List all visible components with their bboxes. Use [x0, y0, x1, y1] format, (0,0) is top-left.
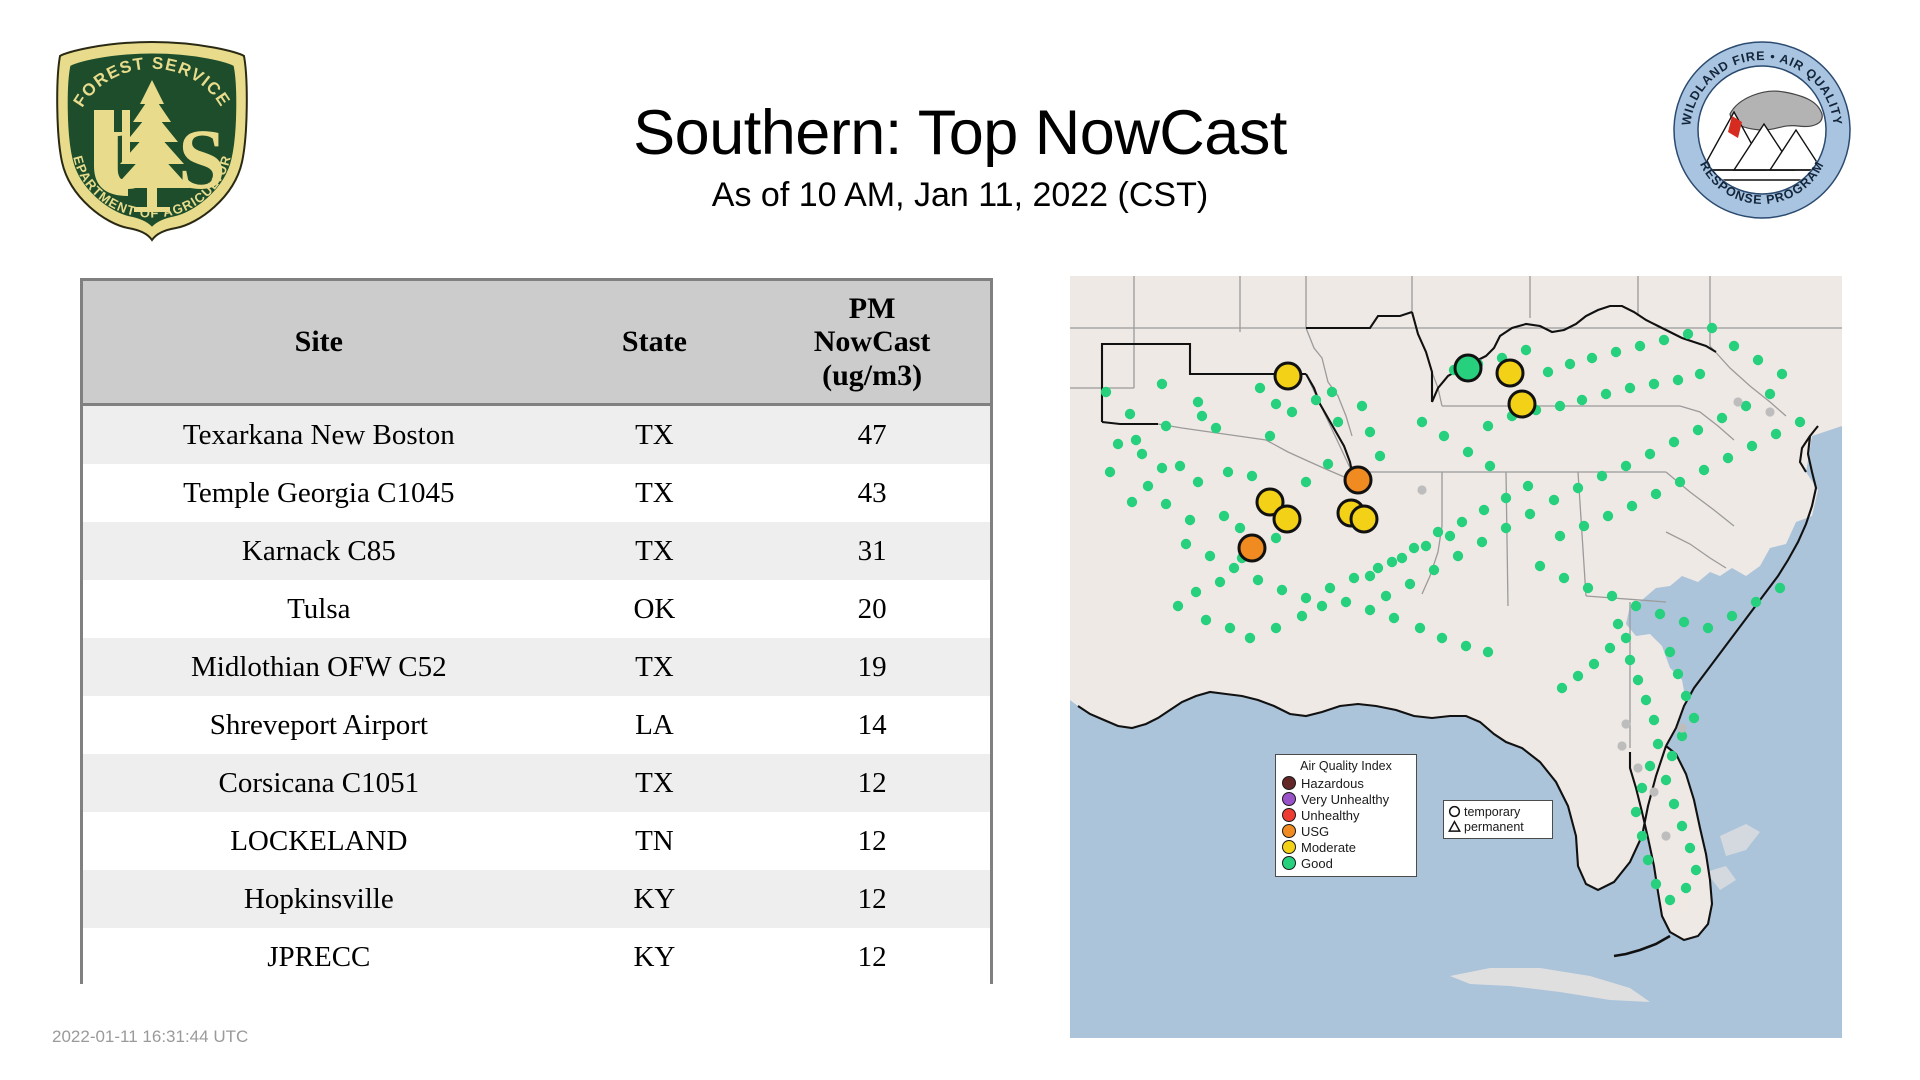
- monitor-site-hopkinsville[interactable]: [1497, 360, 1523, 386]
- good-site-dot: [1245, 633, 1255, 643]
- good-site-dot: [1127, 497, 1137, 507]
- monitor-site-lockeland[interactable]: [1509, 391, 1535, 417]
- good-site-dot: [1415, 623, 1425, 633]
- good-site-dot: [1211, 423, 1221, 433]
- aqi-legend-row: Moderate: [1282, 839, 1410, 855]
- good-site-dot: [1643, 855, 1653, 865]
- good-site-dot: [1727, 611, 1737, 621]
- nowcast-table: Site State PM NowCast (ug/m3) Texarkana …: [83, 281, 990, 986]
- column-header-pm-nowcast: PM NowCast (ug/m3): [754, 281, 990, 405]
- aqi-legend-row: Hazardous: [1282, 775, 1410, 791]
- table-row: Shreveport AirportLA14: [83, 696, 990, 754]
- pm-line-2: NowCast: [814, 325, 931, 358]
- value-cell: 31: [754, 522, 990, 580]
- aqi-swatch-moderate: [1282, 840, 1296, 854]
- value-cell: 43: [754, 464, 990, 522]
- good-site-dot: [1521, 345, 1531, 355]
- good-site-dot: [1479, 505, 1489, 515]
- good-site-dot: [1573, 671, 1583, 681]
- good-site-dot: [1555, 531, 1565, 541]
- monitor-site-texarkana-new-boston[interactable]: [1345, 467, 1371, 493]
- footer-timestamp: 2022-01-11 16:31:44 UTC: [52, 1027, 248, 1047]
- good-site-dot: [1777, 369, 1787, 379]
- no-data-site-dot: [1417, 485, 1426, 494]
- good-site-dot: [1631, 601, 1641, 611]
- good-site-dot: [1485, 461, 1495, 471]
- good-site-dot: [1157, 379, 1167, 389]
- good-site-dot: [1197, 411, 1207, 421]
- good-site-dot: [1611, 347, 1621, 357]
- state-cell: LA: [555, 696, 755, 754]
- good-site-dot: [1229, 563, 1239, 573]
- aqi-legend-label: Unhealthy: [1301, 808, 1360, 823]
- good-site-dot: [1341, 597, 1351, 607]
- good-site-dot: [1349, 573, 1359, 583]
- site-cell: Corsicana C1051: [83, 754, 555, 812]
- good-site-dot: [1501, 523, 1511, 533]
- site-cell: Karnack C85: [83, 522, 555, 580]
- state-cell: OK: [555, 580, 755, 638]
- column-header-site: Site: [83, 281, 555, 405]
- table-body: Texarkana New BostonTX47Temple Georgia C…: [83, 405, 990, 987]
- good-site-dot: [1255, 383, 1265, 393]
- state-cell: TX: [555, 754, 755, 812]
- good-site-dot: [1417, 417, 1427, 427]
- aqi-legend-row: Very Unhealthy: [1282, 791, 1410, 807]
- good-site-dot: [1691, 865, 1701, 875]
- no-data-site-dot: [1649, 787, 1658, 796]
- state-cell: TN: [555, 812, 755, 870]
- good-site-dot: [1201, 615, 1211, 625]
- good-site-dot: [1699, 465, 1709, 475]
- good-site-dot: [1775, 583, 1785, 593]
- site-cell: Temple Georgia C1045: [83, 464, 555, 522]
- good-site-dot: [1601, 389, 1611, 399]
- aqi-legend-label: Moderate: [1301, 840, 1356, 855]
- good-site-dot: [1173, 601, 1183, 611]
- no-data-site-dot: [1633, 763, 1642, 772]
- good-site-dot: [1125, 409, 1135, 419]
- good-site-dot: [1193, 397, 1203, 407]
- table-row: LOCKELANDTN12: [83, 812, 990, 870]
- good-site-dot: [1673, 669, 1683, 679]
- good-site-dot: [1555, 401, 1565, 411]
- good-site-dot: [1665, 647, 1675, 657]
- good-site-dot: [1483, 647, 1493, 657]
- aqi-swatch-usg: [1282, 824, 1296, 838]
- value-cell: 12: [754, 928, 990, 986]
- good-site-dot: [1597, 471, 1607, 481]
- no-data-site-dot: [1733, 397, 1742, 406]
- good-site-dot: [1219, 511, 1229, 521]
- aqi-legend: Air Quality Index HazardousVery Unhealth…: [1275, 754, 1417, 877]
- air-quality-map[interactable]: Air Quality Index HazardousVery Unhealth…: [1070, 276, 1842, 1038]
- table-row: HopkinsvilleKY12: [83, 870, 990, 928]
- good-site-dot: [1621, 461, 1631, 471]
- map-graphic: [1070, 276, 1842, 1038]
- site-cell: Hopkinsville: [83, 870, 555, 928]
- good-site-dot: [1205, 551, 1215, 561]
- good-site-dot: [1633, 675, 1643, 685]
- good-site-dot: [1621, 633, 1631, 643]
- good-site-dot: [1389, 613, 1399, 623]
- good-site-dot: [1683, 329, 1693, 339]
- good-site-dot: [1327, 387, 1337, 397]
- good-site-dot: [1143, 481, 1153, 491]
- good-site-dot: [1625, 655, 1635, 665]
- value-cell: 12: [754, 754, 990, 812]
- good-site-dot: [1603, 511, 1613, 521]
- legend-row-permanent: permanent: [1448, 819, 1548, 834]
- good-site-dot: [1693, 425, 1703, 435]
- good-site-dot: [1645, 449, 1655, 459]
- good-site-dot: [1665, 895, 1675, 905]
- good-site-dot: [1651, 879, 1661, 889]
- aqi-swatch-good: [1282, 856, 1296, 870]
- good-site-dot: [1405, 579, 1415, 589]
- value-cell: 12: [754, 812, 990, 870]
- table-row: Karnack C85TX31: [83, 522, 990, 580]
- column-header-state: State: [555, 281, 755, 405]
- good-site-dot: [1373, 563, 1383, 573]
- good-site-dot: [1501, 493, 1511, 503]
- good-site-dot: [1535, 561, 1545, 571]
- good-site-dot: [1695, 369, 1705, 379]
- good-site-dot: [1323, 459, 1333, 469]
- table-header: Site State PM NowCast (ug/m3): [83, 281, 990, 405]
- value-cell: 47: [754, 405, 990, 465]
- table-row: Corsicana C1051TX12: [83, 754, 990, 812]
- good-site-dot: [1105, 467, 1115, 477]
- circle-icon: [1448, 805, 1461, 818]
- good-site-dot: [1679, 617, 1689, 627]
- good-site-dot: [1747, 441, 1757, 451]
- good-site-dot: [1669, 437, 1679, 447]
- good-site-dot: [1453, 551, 1463, 561]
- good-site-dot: [1175, 461, 1185, 471]
- good-site-dot: [1649, 379, 1659, 389]
- good-site-dot: [1577, 395, 1587, 405]
- good-site-dot: [1605, 643, 1615, 653]
- good-site-dot: [1653, 739, 1663, 749]
- good-site-dot: [1375, 451, 1385, 461]
- good-site-dot: [1625, 383, 1635, 393]
- good-site-dot: [1271, 399, 1281, 409]
- site-cell: JPRECC: [83, 928, 555, 986]
- good-site-dot: [1729, 341, 1739, 351]
- table-row: TulsaOK20: [83, 580, 990, 638]
- good-site-dot: [1753, 355, 1763, 365]
- good-site-dot: [1673, 375, 1683, 385]
- legend-row-temporary: temporary: [1448, 804, 1548, 819]
- site-type-legend: temporary permanent: [1443, 800, 1553, 839]
- good-site-dot: [1317, 601, 1327, 611]
- good-site-dot: [1311, 395, 1321, 405]
- good-site-dot: [1483, 421, 1493, 431]
- good-site-dot: [1137, 449, 1147, 459]
- page-subtitle: As of 10 AM, Jan 11, 2022 (CST): [0, 178, 1920, 212]
- good-site-dot: [1559, 573, 1569, 583]
- good-site-dot: [1717, 413, 1727, 423]
- site-cell: Midlothian OFW C52: [83, 638, 555, 696]
- good-site-dot: [1365, 571, 1375, 581]
- page-header: U S FOREST SERVICE DEPARTMENT OF AGRICUL…: [0, 0, 1920, 250]
- good-site-dot: [1101, 387, 1111, 397]
- good-site-dot: [1525, 509, 1535, 519]
- good-site-dot: [1463, 447, 1473, 457]
- table-row: Midlothian OFW C52TX19: [83, 638, 990, 696]
- good-site-dot: [1685, 843, 1695, 853]
- good-site-dot: [1357, 401, 1367, 411]
- good-site-dot: [1223, 467, 1233, 477]
- pm-line-3: (ug/m3): [822, 359, 922, 392]
- good-site-dot: [1627, 501, 1637, 511]
- aqi-legend-title: Air Quality Index: [1282, 759, 1410, 773]
- good-site-dot: [1235, 523, 1245, 533]
- good-site-dot: [1579, 521, 1589, 531]
- good-site-dot: [1381, 591, 1391, 601]
- page-title: Southern: Top NowCast: [0, 102, 1920, 165]
- good-site-dot: [1565, 359, 1575, 369]
- good-site-dot: [1637, 831, 1647, 841]
- good-site-dot: [1631, 807, 1641, 817]
- good-site-dot: [1297, 611, 1307, 621]
- good-site-dot: [1301, 477, 1311, 487]
- legend-label-temporary: temporary: [1464, 805, 1520, 819]
- aqi-legend-label: Good: [1301, 856, 1333, 871]
- good-site-dot: [1557, 683, 1567, 693]
- monitor-site-tulsa[interactable]: [1275, 363, 1301, 389]
- good-site-dot: [1409, 543, 1419, 553]
- state-cell: TX: [555, 638, 755, 696]
- aqi-swatch-very-unhealthy: [1282, 792, 1296, 806]
- good-site-dot: [1225, 623, 1235, 633]
- good-site-dot: [1641, 695, 1651, 705]
- wildland-fire-air-quality-response-program-logo: WILDLAND FIRE • AIR QUALITY RESPONSE PRO…: [1672, 40, 1852, 220]
- good-site-dot: [1253, 575, 1263, 585]
- good-site-dot: [1433, 527, 1443, 537]
- aqi-legend-row: Unhealthy: [1282, 807, 1410, 823]
- triangle-icon: [1448, 820, 1461, 833]
- no-data-site-dot: [1677, 723, 1686, 732]
- good-site-dot: [1157, 463, 1167, 473]
- good-site-dot: [1421, 541, 1431, 551]
- state-cell: TX: [555, 522, 755, 580]
- good-site-dot: [1185, 515, 1195, 525]
- value-cell: 14: [754, 696, 990, 754]
- good-site-dot: [1287, 407, 1297, 417]
- good-site-dot: [1543, 367, 1553, 377]
- good-site-dot: [1583, 583, 1593, 593]
- table-row: Temple Georgia C1045TX43: [83, 464, 990, 522]
- good-site-dot: [1247, 471, 1257, 481]
- no-data-site-dot: [1765, 407, 1774, 416]
- no-data-site-dot: [1621, 719, 1630, 728]
- state-cell: KY: [555, 870, 755, 928]
- good-site-dot: [1655, 609, 1665, 619]
- good-site-dot: [1477, 537, 1487, 547]
- good-site-dot: [1659, 335, 1669, 345]
- aqi-legend-row: USG: [1282, 823, 1410, 839]
- good-site-dot: [1635, 341, 1645, 351]
- good-site-dot: [1651, 489, 1661, 499]
- good-site-dot: [1191, 587, 1201, 597]
- aqi-legend-label: Hazardous: [1301, 776, 1364, 791]
- aqi-legend-label: USG: [1301, 824, 1329, 839]
- monitor-site-temple-georgia-c1045[interactable]: [1239, 535, 1265, 561]
- good-site-dot: [1675, 477, 1685, 487]
- good-site-dot: [1707, 323, 1717, 333]
- good-site-dot: [1265, 431, 1275, 441]
- value-cell: 19: [754, 638, 990, 696]
- good-site-dot: [1445, 531, 1455, 541]
- table-row: Texarkana New BostonTX47: [83, 405, 990, 465]
- state-cell: TX: [555, 464, 755, 522]
- site-cell: Texarkana New Boston: [83, 405, 555, 465]
- good-site-dot: [1649, 715, 1659, 725]
- good-site-dot: [1215, 577, 1225, 587]
- good-site-dot: [1271, 623, 1281, 633]
- good-site-dot: [1681, 691, 1691, 701]
- good-site-dot: [1397, 553, 1407, 563]
- table-row: JPRECCKY12: [83, 928, 990, 986]
- good-site-dot: [1523, 481, 1533, 491]
- good-site-dot: [1161, 421, 1171, 431]
- good-site-dot: [1437, 633, 1447, 643]
- aqi-swatch-unhealthy: [1282, 808, 1296, 822]
- good-site-dot: [1193, 477, 1203, 487]
- good-site-dot: [1325, 583, 1335, 593]
- good-site-dot: [1461, 641, 1471, 651]
- good-site-dot: [1589, 659, 1599, 669]
- good-site-dot: [1271, 533, 1281, 543]
- good-site-dot: [1613, 619, 1623, 629]
- good-site-dot: [1771, 429, 1781, 439]
- good-site-dot: [1573, 483, 1583, 493]
- good-site-dot: [1681, 883, 1691, 893]
- aqi-legend-label: Very Unhealthy: [1301, 792, 1389, 807]
- good-site-dot: [1661, 775, 1671, 785]
- site-cell: Tulsa: [83, 580, 555, 638]
- good-site-dot: [1161, 499, 1171, 509]
- good-site-dot: [1429, 565, 1439, 575]
- good-site-dot: [1667, 751, 1677, 761]
- table-header-row: Site State PM NowCast (ug/m3): [83, 281, 990, 405]
- legend-label-permanent: permanent: [1464, 820, 1524, 834]
- good-site-dot: [1113, 439, 1123, 449]
- good-site-dot: [1689, 713, 1699, 723]
- monitor-site-corsicana-c1051[interactable]: [1274, 506, 1300, 532]
- good-site-dot: [1607, 591, 1617, 601]
- good-site-dot: [1751, 597, 1761, 607]
- good-site-dot: [1439, 431, 1449, 441]
- good-site-dot: [1365, 605, 1375, 615]
- state-cell: TX: [555, 405, 755, 465]
- nowcast-table-panel: Site State PM NowCast (ug/m3) Texarkana …: [80, 278, 993, 984]
- good-site-dot: [1181, 539, 1191, 549]
- good-site-dot: [1131, 435, 1141, 445]
- pm-line-1: PM: [849, 292, 896, 325]
- good-site-dot: [1795, 417, 1805, 427]
- good-site-dot: [1277, 585, 1287, 595]
- no-data-site-dot: [1661, 831, 1670, 840]
- good-site-dot: [1723, 453, 1733, 463]
- good-site-dot: [1645, 761, 1655, 771]
- monitor-site-shreveport-airport[interactable]: [1351, 506, 1377, 532]
- good-site-dot: [1301, 593, 1311, 603]
- aqi-legend-row: Good: [1282, 855, 1410, 871]
- no-data-site-dot: [1617, 741, 1626, 750]
- monitor-site-jprecc[interactable]: [1455, 355, 1481, 381]
- good-site-dot: [1587, 353, 1597, 363]
- good-site-dot: [1765, 389, 1775, 399]
- site-cell: Shreveport Airport: [83, 696, 555, 754]
- site-cell: LOCKELAND: [83, 812, 555, 870]
- good-site-dot: [1669, 799, 1679, 809]
- good-site-dot: [1365, 427, 1375, 437]
- state-cell: KY: [555, 928, 755, 986]
- good-site-dot: [1387, 557, 1397, 567]
- good-site-dot: [1677, 821, 1687, 831]
- good-site-dot: [1703, 623, 1713, 633]
- good-site-dot: [1457, 517, 1467, 527]
- good-site-dot: [1333, 417, 1343, 427]
- value-cell: 20: [754, 580, 990, 638]
- good-site-dot: [1637, 783, 1647, 793]
- value-cell: 12: [754, 870, 990, 928]
- good-site-dot: [1549, 495, 1559, 505]
- aqi-swatch-hazardous: [1282, 776, 1296, 790]
